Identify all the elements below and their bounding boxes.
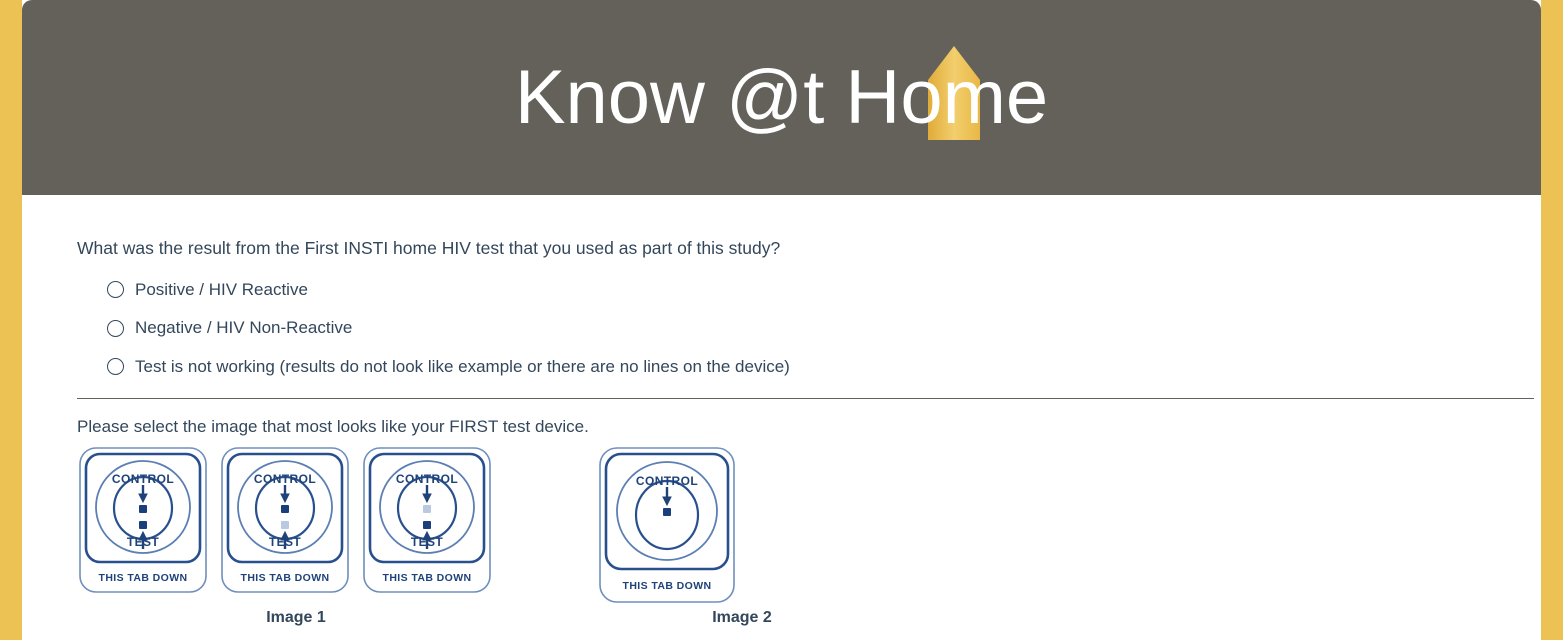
- image-select-instruction: Please select the image that most looks …: [77, 417, 1541, 437]
- device-tab-label: THIS TAB DOWN: [623, 580, 712, 592]
- device-control-dot: [423, 505, 431, 513]
- device-control-label: CONTROL: [396, 472, 458, 486]
- device-tab-label: THIS TAB DOWN: [99, 572, 188, 584]
- insti-device-icon: CONTROL THIS TAB DOWN: [597, 445, 737, 605]
- radio-group: Positive / HIV Reactive Negative / HIV N…: [77, 280, 1541, 377]
- radio-button-positive[interactable]: [107, 281, 124, 298]
- device-group-image-2[interactable]: CONTROL THIS TAB DOWN: [597, 445, 747, 605]
- device-option-1b[interactable]: CONTROL TEST THIS TAB DOWN: [219, 445, 351, 595]
- insti-device-icon: CONTROL TEST THIS TAB DOWN: [77, 445, 209, 595]
- logo-text-before: Know: [515, 38, 726, 158]
- device-image-area: CONTROL TEST THIS TAB DOWN: [77, 445, 1541, 630]
- device-tab-label: THIS TAB DOWN: [241, 572, 330, 584]
- device-tab-label: THIS TAB DOWN: [383, 572, 472, 584]
- option-negative[interactable]: Negative / HIV Non-Reactive: [77, 318, 1541, 338]
- device-control-label: CONTROL: [112, 472, 174, 486]
- insti-device-icon: CONTROL TEST THIS TAB DOWN: [361, 445, 493, 595]
- device-group-caption-1: Image 1: [77, 609, 515, 627]
- site-logo: Know @ t Home: [22, 0, 1541, 195]
- device-group-caption-2: Image 2: [597, 609, 887, 627]
- device-test-dot: [281, 521, 289, 529]
- device-option-1c[interactable]: CONTROL TEST THIS TAB DOWN: [361, 445, 493, 595]
- radio-button-not-working[interactable]: [107, 358, 124, 375]
- device-control-dot: [281, 505, 289, 513]
- option-label-positive: Positive / HIV Reactive: [135, 280, 308, 300]
- device-test-label: TEST: [269, 535, 302, 549]
- option-label-negative: Negative / HIV Non-Reactive: [135, 318, 352, 338]
- device-control-dot: [139, 505, 147, 513]
- device-test-label: TEST: [127, 535, 160, 549]
- device-control-label: CONTROL: [254, 472, 316, 486]
- question-block: What was the result from the First INSTI…: [22, 195, 1541, 377]
- logo-at-symbol: @: [726, 55, 803, 140]
- device-option-1a[interactable]: CONTROL TEST THIS TAB DOWN: [77, 445, 209, 595]
- device-test-label: TEST: [411, 535, 444, 549]
- option-not-working[interactable]: Test is not working (results do not look…: [77, 357, 1541, 377]
- device-test-dot: [139, 521, 147, 529]
- insti-device-icon: CONTROL TEST THIS TAB DOWN: [219, 445, 351, 595]
- option-label-not-working: Test is not working (results do not look…: [135, 357, 790, 377]
- survey-content: What was the result from the First INSTI…: [22, 195, 1541, 630]
- device-option-2a[interactable]: CONTROL THIS TAB DOWN: [597, 445, 737, 605]
- question-title: What was the result from the First INSTI…: [77, 237, 1541, 260]
- radio-button-negative[interactable]: [107, 320, 124, 337]
- device-control-dot: [663, 508, 671, 516]
- section-divider: [77, 398, 1534, 399]
- page-card: Know @ t Home: [22, 0, 1541, 640]
- site-header: Know @ t Home: [22, 0, 1541, 195]
- device-test-dot: [423, 521, 431, 529]
- device-control-label: CONTROL: [636, 474, 698, 488]
- option-positive[interactable]: Positive / HIV Reactive: [77, 280, 1541, 300]
- logo-text-after: t Home: [803, 38, 1048, 158]
- device-group-image-1[interactable]: CONTROL TEST THIS TAB DOWN: [77, 445, 503, 595]
